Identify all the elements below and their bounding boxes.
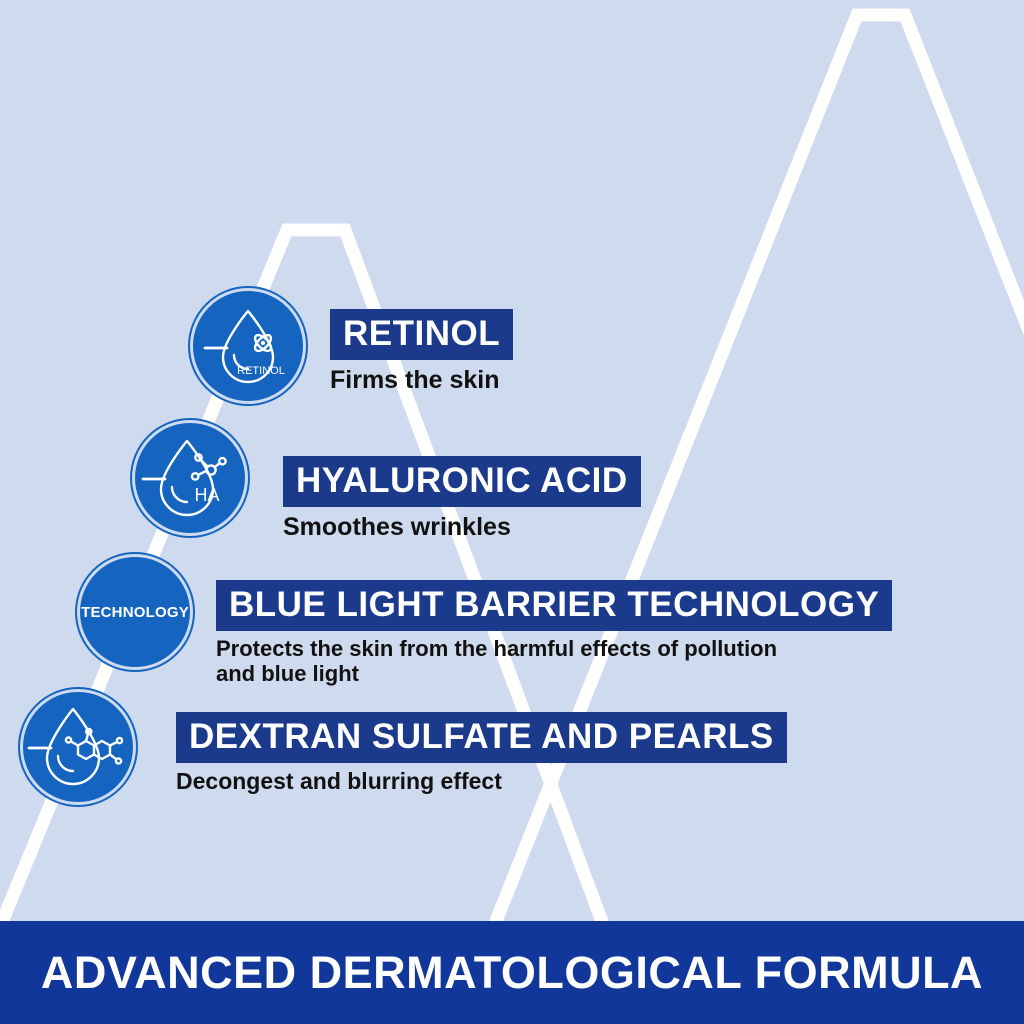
ingredient-description-hyaluronic-acid: Smoothes wrinkles (283, 513, 641, 541)
ingredient-title-hyaluronic-acid: HYALURONIC ACID (283, 456, 641, 507)
icon-caption-retinol: RETINOL (237, 365, 285, 377)
text-block-blue-light-barrier-technology: BLUE LIGHT BARRIER TECHNOLOGY Protects t… (216, 580, 892, 686)
ingredient-description-retinol: Firms the skin (330, 366, 513, 394)
banner-title: ADVANCED DERMATOLOGICAL FORMULA (41, 947, 983, 999)
text-block-retinol: RETINOL Firms the skin (330, 309, 513, 394)
droplet-molecule-ha-icon: HA (135, 423, 245, 533)
ingredient-description-blue-light-barrier-technology: Protects the skin from the harmful effec… (216, 637, 892, 686)
ingredient-title-blue-light-barrier-technology: BLUE LIGHT BARRIER TECHNOLOGY (216, 580, 892, 631)
text-block-dextran-sulfate-and-pearls: DEXTRAN SULFATE AND PEARLS Decongest and… (176, 712, 787, 795)
droplet-hexagon-molecule-icon (23, 692, 133, 802)
infographic-canvas: RETINOL RETINOL Firms the skin (0, 0, 1024, 1024)
technology-circle-icon: TECHNOLOGY (80, 557, 190, 667)
text-block-hyaluronic-acid: HYALURONIC ACID Smoothes wrinkles (283, 456, 641, 541)
droplet-atom-retinol-icon: RETINOL (193, 291, 303, 401)
icon-caption-ha: HA (194, 485, 219, 505)
advanced-formula-banner: ADVANCED DERMATOLOGICAL FORMULA (0, 921, 1024, 1024)
ingredient-title-dextran-sulfate-and-pearls: DEXTRAN SULFATE AND PEARLS (176, 712, 787, 763)
ingredient-title-retinol: RETINOL (330, 309, 513, 360)
ingredient-description-dextran-sulfate-and-pearls: Decongest and blurring effect (176, 769, 787, 795)
icon-caption-technology: TECHNOLOGY (81, 605, 189, 620)
